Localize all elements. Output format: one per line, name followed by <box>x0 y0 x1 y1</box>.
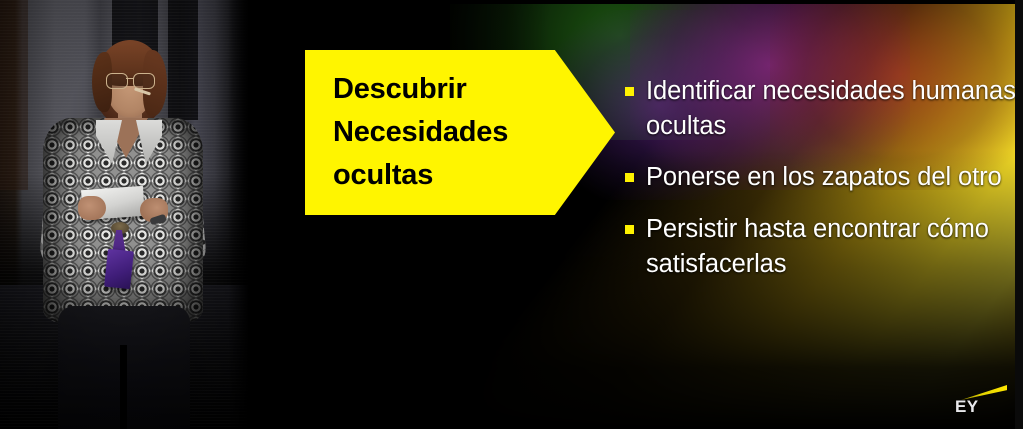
glasses-lens-right <box>133 73 155 89</box>
bullet-text: Persistir hasta encontrar cómo satisface… <box>646 212 1017 281</box>
ey-logo-text: EY <box>955 397 978 417</box>
bullet-text: Identificar necesidades humanas ocultas <box>646 74 1017 143</box>
slide-top-edge <box>250 0 1023 4</box>
presentation-screenshot: Descubrir Necesidades ocultas Identifica… <box>0 0 1023 429</box>
speaker-video-panel <box>0 0 250 429</box>
speaker-glasses <box>104 73 156 88</box>
arrow-banner: Descubrir Necesidades ocultas <box>305 50 615 215</box>
square-bullet-icon <box>625 87 634 96</box>
ey-logo: EY <box>949 383 1007 417</box>
square-bullet-icon <box>625 225 634 234</box>
glasses-bridge <box>126 78 134 79</box>
speaker-figure <box>0 0 250 429</box>
square-bullet-icon <box>625 173 634 182</box>
speaker-leg-gap <box>120 345 127 429</box>
arrow-banner-title: Descubrir Necesidades ocultas <box>305 68 578 197</box>
list-item: Identificar necesidades humanas ocultas <box>625 74 1017 143</box>
slide-area: Descubrir Necesidades ocultas Identifica… <box>250 0 1023 429</box>
glasses-lens-left <box>106 73 128 89</box>
slide-right-edge <box>1015 0 1023 429</box>
speaker-hand-left <box>78 196 106 220</box>
bullet-text: Ponerse en los zapatos del otro <box>646 160 1002 195</box>
list-item: Persistir hasta encontrar cómo satisface… <box>625 212 1017 281</box>
speaker-badge <box>104 249 134 290</box>
bullet-list: Identificar necesidades humanas ocultas … <box>625 74 1017 298</box>
list-item: Ponerse en los zapatos del otro <box>625 160 1017 195</box>
